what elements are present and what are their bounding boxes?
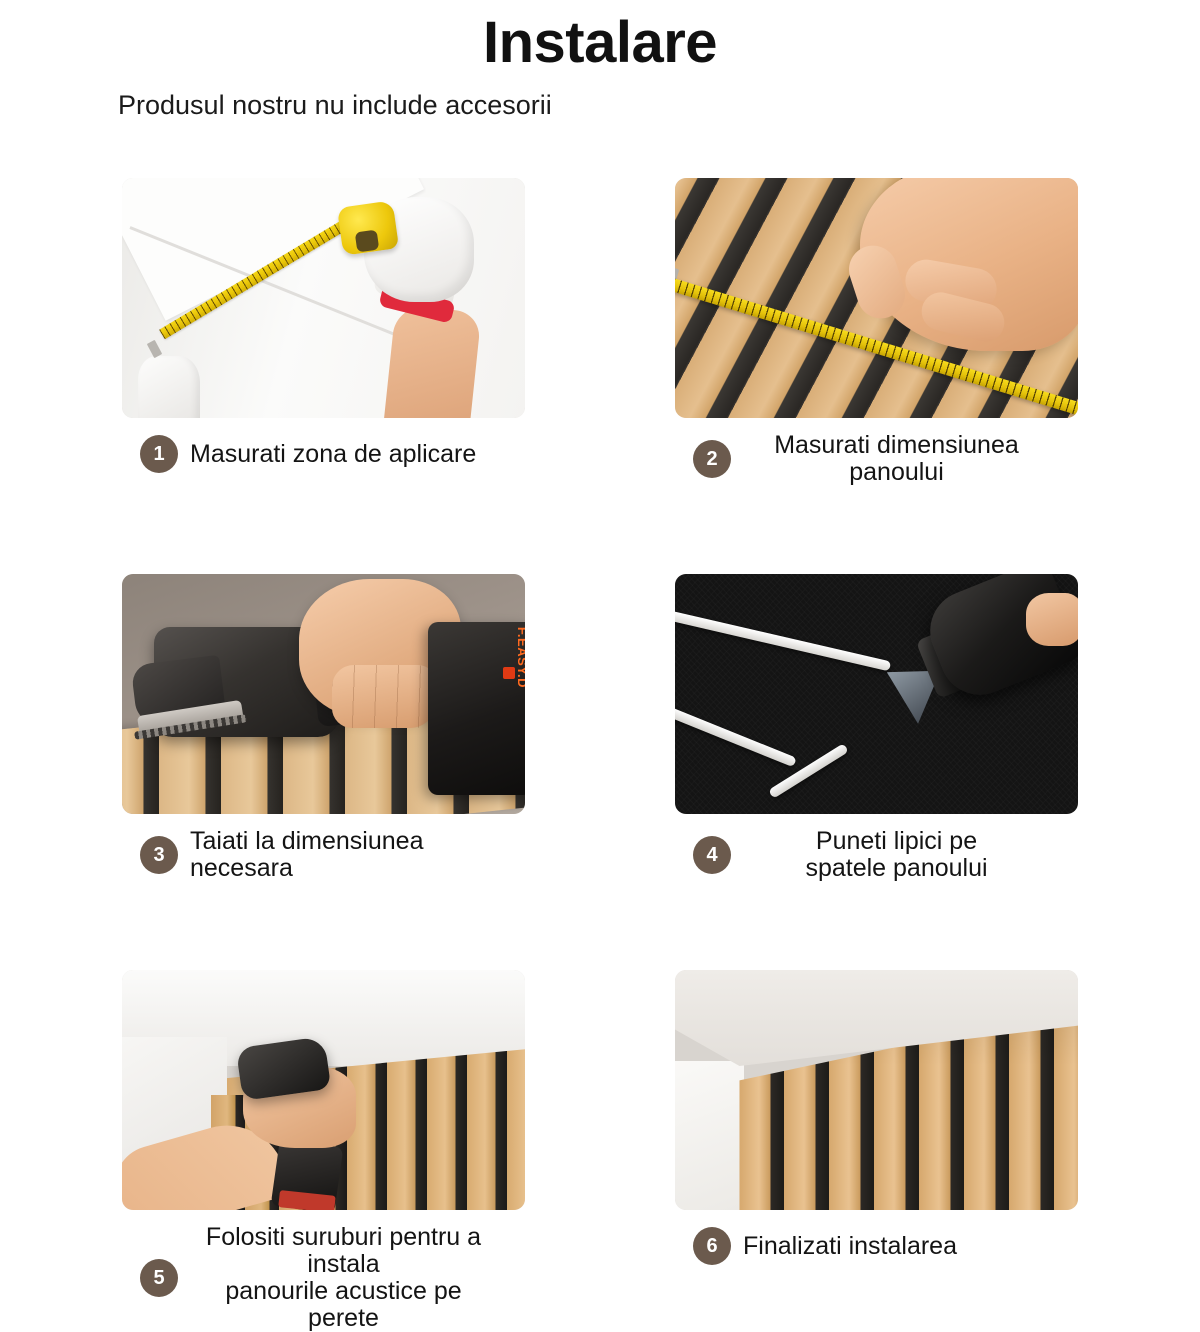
page-subtitle: Produsul nostru nu include accesorii xyxy=(118,90,1200,121)
step-caption-5: 5 Folositi suruburi pentru a instala pan… xyxy=(122,1224,525,1332)
step-item-4: 4 Puneti lipici pe spatele panoului xyxy=(675,574,1078,882)
step-item-6: 6 Finalizati instalarea xyxy=(675,970,1078,1332)
battery-brand-label: F.EASY.D xyxy=(515,627,525,688)
glove-lower-icon xyxy=(138,356,200,418)
step-item-5: 5 Folositi suruburi pentru a instala pan… xyxy=(122,970,525,1332)
step-caption-4: 4 Puneti lipici pe spatele panoului xyxy=(675,828,1078,882)
step-badge-2: 2 xyxy=(693,440,731,478)
step-photo-5 xyxy=(122,970,525,1210)
step-photo-6 xyxy=(675,970,1078,1210)
battery-indicator-icon xyxy=(503,667,515,679)
step-caption-text-3: Taiati la dimensiunea necesara xyxy=(190,828,525,882)
page-title: Instalare xyxy=(0,0,1200,72)
step-badge-1: 1 xyxy=(140,435,178,473)
thumb xyxy=(1026,593,1078,646)
step-badge-4: 4 xyxy=(693,836,731,874)
step-badge-3: 3 xyxy=(140,836,178,874)
step-caption-text-4: Puneti lipici pe spatele panoului xyxy=(743,828,1078,882)
step-photo-4 xyxy=(675,574,1078,814)
step-item-1: 1 Masurati zona de aplicare xyxy=(122,178,525,486)
wall-surface xyxy=(675,1061,744,1210)
step-badge-6: 6 xyxy=(693,1227,731,1265)
battery-pack: F.EASY.D 24V xyxy=(428,622,525,795)
step-caption-text-1: Masurati zona de aplicare xyxy=(190,441,476,468)
step-caption-text-2: Masurati dimensiunea panoului xyxy=(743,432,1078,486)
steps-grid: 1 Masurati zona de aplicare 2 Masurati d… xyxy=(122,178,1078,1332)
step-caption-text-5: Folositi suruburi pentru a instala panou… xyxy=(190,1224,525,1332)
step-badge-5: 5 xyxy=(140,1259,178,1297)
step-item-2: 2 Masurati dimensiunea panoului xyxy=(675,178,1078,486)
fingers xyxy=(332,665,437,727)
step-caption-3: 3 Taiati la dimensiunea necesara xyxy=(122,828,525,882)
step-photo-1 xyxy=(122,178,525,418)
step-caption-text-6: Finalizati instalarea xyxy=(743,1233,957,1260)
step-item-3: F.EASY.D 24V 3 Taiati la dimensiunea nec… xyxy=(122,574,525,882)
step-caption-6: 6 Finalizati instalarea xyxy=(675,1224,1078,1268)
step-photo-3: F.EASY.D 24V xyxy=(122,574,525,814)
tape-measure-case-opening xyxy=(354,229,379,252)
step-caption-2: 2 Masurati dimensiunea panoului xyxy=(675,432,1078,486)
step-photo-2 xyxy=(675,178,1078,418)
step-caption-1: 1 Masurati zona de aplicare xyxy=(122,432,525,476)
